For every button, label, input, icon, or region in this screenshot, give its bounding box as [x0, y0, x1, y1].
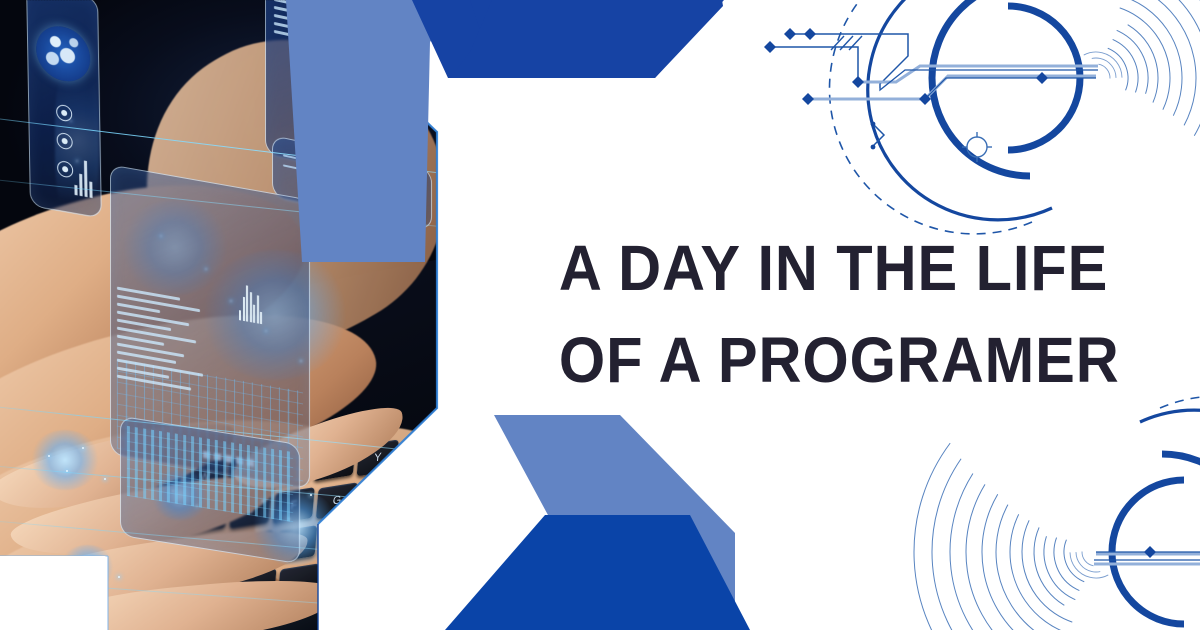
- title-line-1: A DAY IN THE LIFE: [559, 222, 1061, 314]
- medium-blue-arcs: [1140, 410, 1200, 630]
- dashed-arc: [1160, 396, 1200, 630]
- bold-blue-arcs: [1112, 454, 1200, 630]
- title-block: A DAY IN THE LIFE OF A PROGRAMER: [540, 222, 1080, 406]
- title-line-2: OF A PROGRAMER: [559, 314, 1061, 406]
- banner-root: Q W E R T Y U I A S D F G H J K Z X C V: [0, 0, 1200, 630]
